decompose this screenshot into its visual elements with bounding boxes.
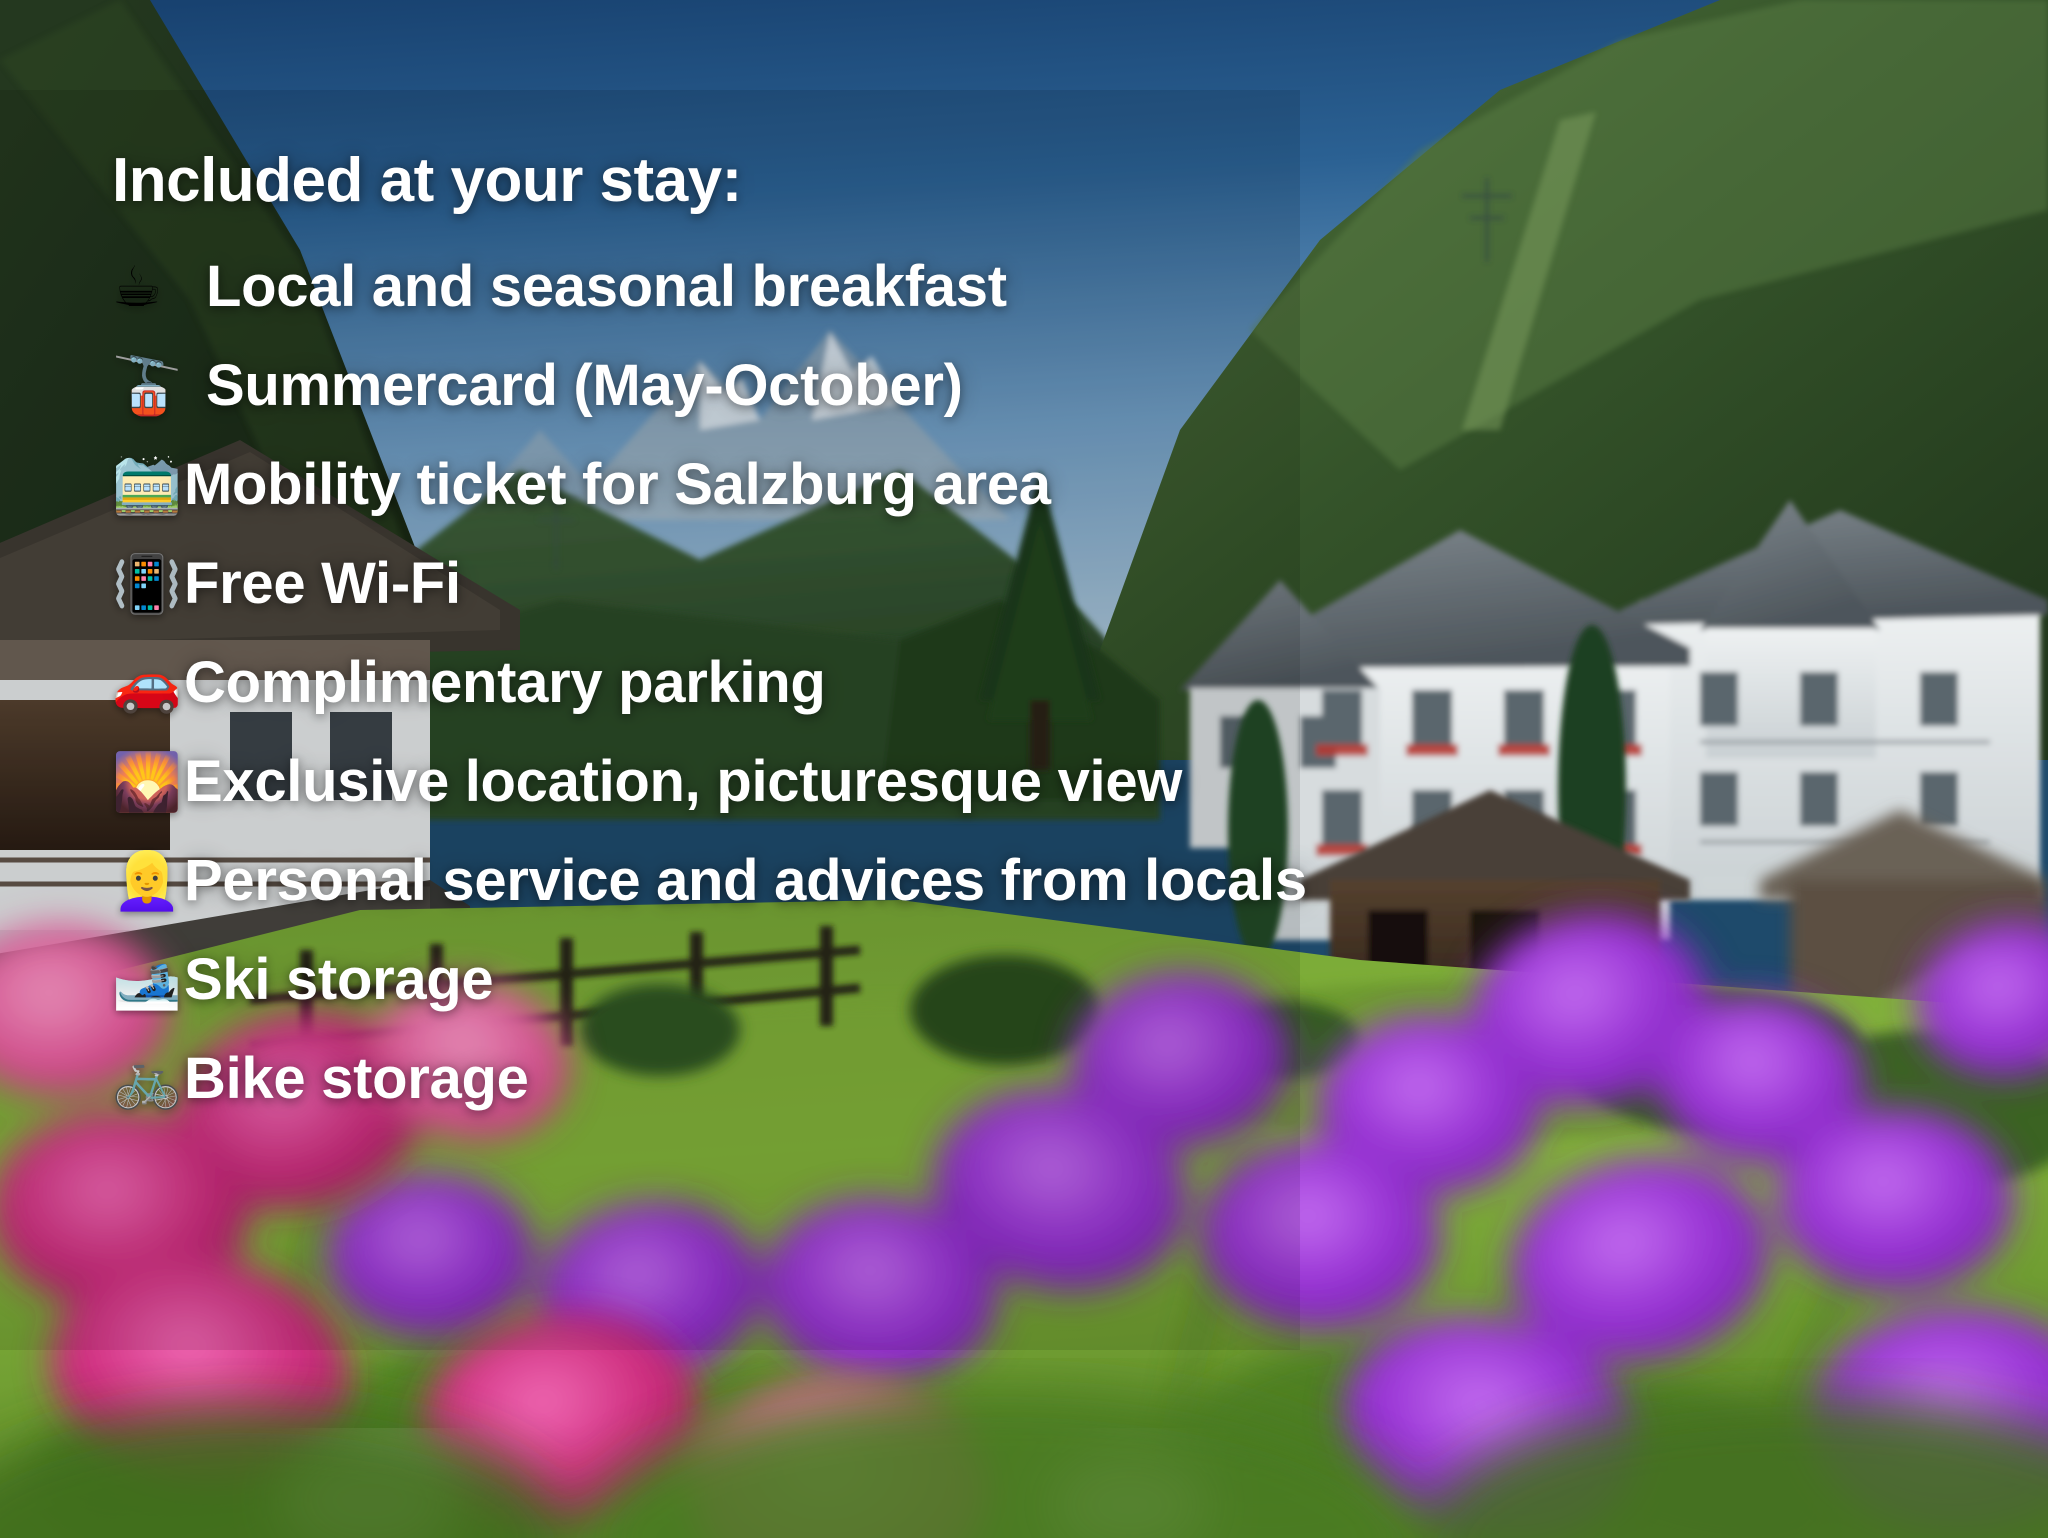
hot-beverage-icon: ☕ — [112, 259, 184, 315]
amenity-label: Bike storage — [184, 1049, 529, 1110]
vibration-mode-icon: 📳 — [112, 556, 184, 612]
amenity-item: 🚗Complimentary parking — [112, 652, 1732, 714]
amenity-item: ☕Local and seasonal breakfast — [112, 256, 1732, 318]
amenities-list: ☕Local and seasonal breakfast🚡Summercard… — [112, 256, 1732, 1110]
amenity-label: Mobility ticket for Salzburg area — [184, 455, 1051, 516]
amenity-item: 🚞Mobility ticket for Salzburg area — [112, 454, 1732, 516]
amenity-label: Free Wi-Fi — [184, 554, 461, 615]
amenity-item: 🌄Exclusive location, picturesque view — [112, 751, 1732, 813]
page-title: Included at your stay: — [112, 150, 1732, 212]
sunrise-over-mountains-icon: 🌄 — [112, 754, 184, 810]
amenity-item: 🚡Summercard (May-October) — [112, 355, 1732, 417]
amenity-item: 🚲Bike storage — [112, 1048, 1732, 1110]
amenity-label: Local and seasonal breakfast — [184, 257, 1007, 318]
aerial-tramway-icon: 🚡 — [112, 358, 184, 414]
promo-image: Included at your stay: ☕Local and season… — [0, 0, 2048, 1538]
amenity-label: Exclusive location, picturesque view — [184, 752, 1182, 813]
skis-icon: 🎿 — [112, 952, 184, 1008]
amenity-label: Ski storage — [184, 950, 493, 1011]
amenities-overlay: Included at your stay: ☕Local and season… — [112, 150, 1732, 1147]
amenity-item: 👱‍♀️Personal service and advices from lo… — [112, 850, 1732, 912]
amenity-label: Summercard (May-October) — [184, 356, 963, 417]
mountain-railway-icon: 🚞 — [112, 457, 184, 513]
amenity-label: Personal service and advices from locals — [184, 851, 1307, 912]
car-icon: 🚗 — [112, 655, 184, 711]
bicycle-icon: 🚲 — [112, 1051, 184, 1107]
amenity-item: 🎿Ski storage — [112, 949, 1732, 1011]
blonde-woman-icon: 👱‍♀️ — [112, 853, 184, 909]
amenity-item: 📳Free Wi-Fi — [112, 553, 1732, 615]
amenity-label: Complimentary parking — [184, 653, 826, 714]
